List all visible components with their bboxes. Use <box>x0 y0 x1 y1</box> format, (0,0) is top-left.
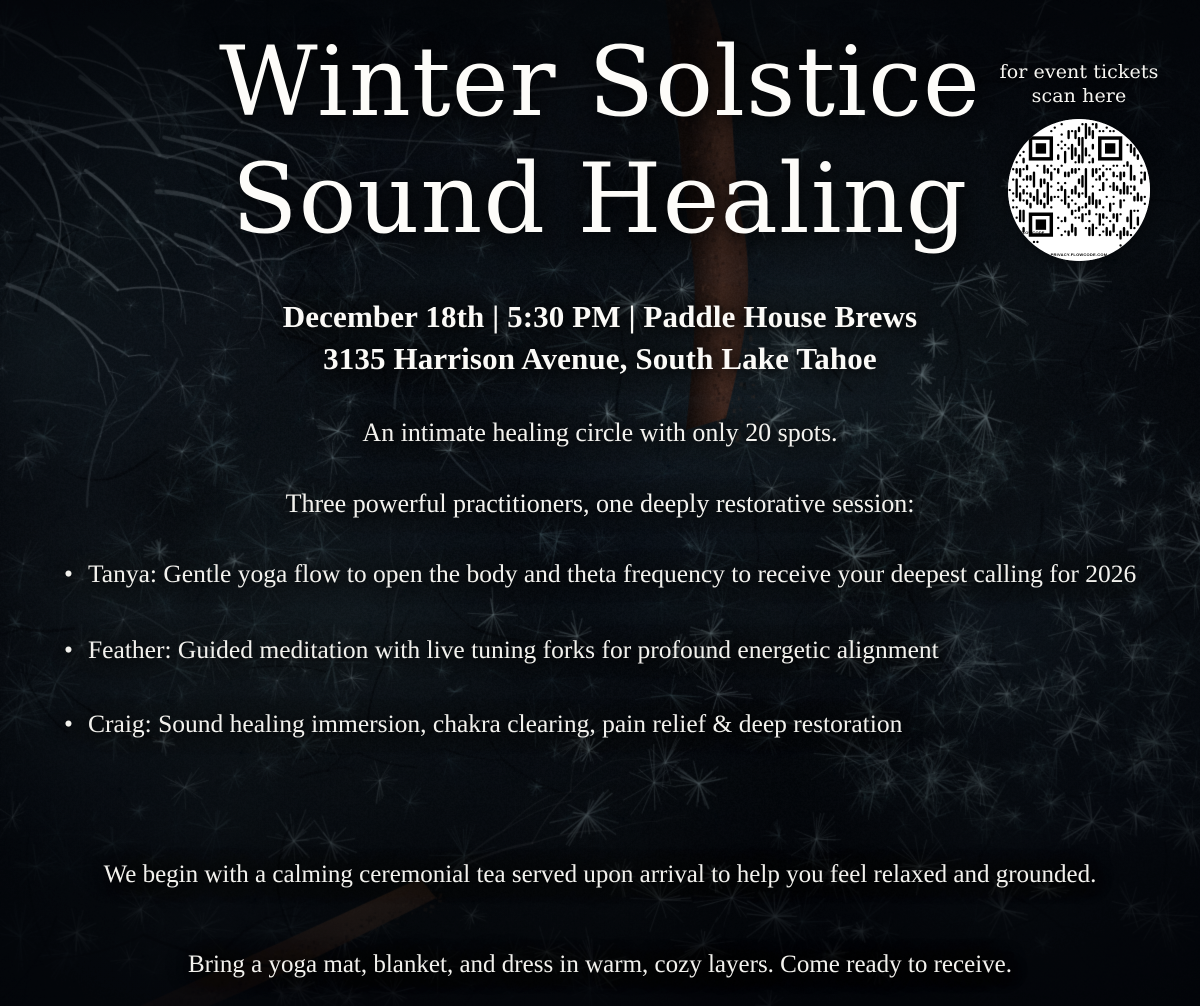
poster-content: Winter Solstice Sound Healing December 1… <box>0 0 1200 1006</box>
qr-caption-line-1: for event tickets <box>990 60 1168 84</box>
qr-privacy-url-label: PRIVACY.FLOWCODE.COM <box>1008 252 1150 257</box>
qr-code-icon[interactable]: FLOWCODE PRIVACY.FLOWCODE.COM <box>1008 119 1150 261</box>
list-item: • Craig: Sound healing immersion, chakra… <box>58 706 1168 742</box>
qr-ticket-block[interactable]: for event tickets scan here FLOWCODE PRI… <box>990 60 1168 261</box>
poster-canvas: Winter Solstice Sound Healing December 1… <box>0 0 1200 1006</box>
practitioner-list: • Tanya: Gentle yoga flow to open the bo… <box>58 556 1168 743</box>
practitioner-craig-text: Craig: Sound healing immersion, chakra c… <box>88 709 902 738</box>
qr-code-modules <box>1008 119 1150 261</box>
practitioner-feather-text: Feather: Guided meditation with live tun… <box>88 635 939 664</box>
closing-what-to-bring-text: Bring a yoga mat, blanket, and dress in … <box>0 948 1200 983</box>
bullet-icon: • <box>64 632 73 668</box>
bullet-icon: • <box>64 556 73 592</box>
practitioners-lead-text: Three powerful practitioners, one deeply… <box>0 486 1200 522</box>
bullet-icon: • <box>64 706 73 742</box>
event-date-time-venue: December 18th | 5:30 PM | Paddle House B… <box>0 296 1200 338</box>
event-details: December 18th | 5:30 PM | Paddle House B… <box>0 296 1200 379</box>
list-item: • Tanya: Gentle yoga flow to open the bo… <box>58 556 1168 592</box>
list-item: • Feather: Guided meditation with live t… <box>58 632 1168 668</box>
practitioner-tanya-text: Tanya: Gentle yoga flow to open the body… <box>88 559 1136 588</box>
intro-capacity-text: An intimate healing circle with only 20 … <box>0 415 1200 451</box>
event-address: 3135 Harrison Avenue, South Lake Tahoe <box>0 338 1200 380</box>
closing-ceremonial-tea-text: We begin with a calming ceremonial tea s… <box>0 858 1200 893</box>
qr-caption-line-2: scan here <box>990 84 1168 108</box>
qr-brand-label: FLOWCODE <box>1020 230 1045 235</box>
